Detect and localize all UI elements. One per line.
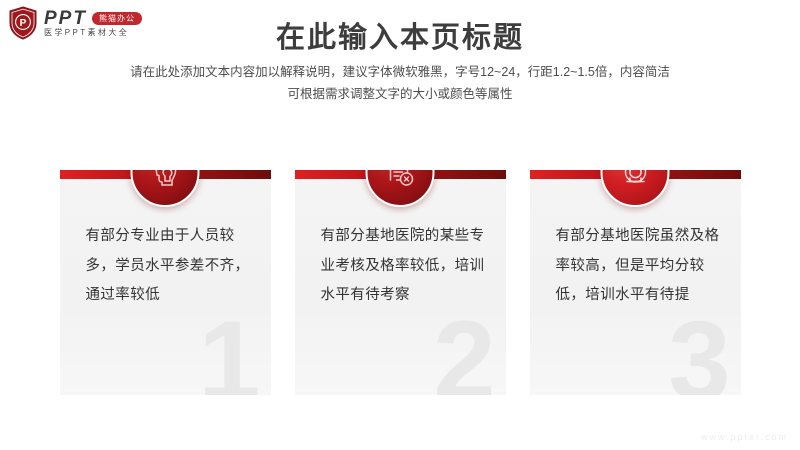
info-card-2[interactable]: 有部分基地医院的某些专业考核及格率较低，培训水平有待考察 2 (295, 170, 506, 395)
card-watermark-number: 1 (198, 305, 260, 395)
card-row: 有部分专业由于人员较多，学员水平参差不齐，通过率较低 1 有部分基地医院的某些专… (0, 170, 800, 395)
page-title: 在此输入本页标题 (0, 14, 800, 56)
info-card-1[interactable]: 有部分专业由于人员较多，学员水平参差不齐，通过率较低 1 (60, 170, 271, 395)
anatomy-head-icon (131, 170, 200, 207)
info-card-3[interactable]: 有部分基地医院虽然及格率较高，但是平均分较低，培训水平有待提 3 (530, 170, 741, 395)
page-subtitle: 请在此处添加文本内容加以解释说明，建议字体微软雅黑，字号12~24，行距1.2~… (0, 62, 800, 106)
site-watermark: www.ppter.com (701, 432, 788, 442)
card-watermark-number: 2 (433, 305, 495, 395)
subtitle-line-1: 请在此处添加文本内容加以解释说明，建议字体微软雅黑，字号12~24，行距1.2~… (0, 62, 800, 84)
card-watermark-number: 3 (668, 305, 730, 395)
subtitle-line-2: 可根据需求调整文字的大小或颜色等属性 (0, 84, 800, 106)
document-reject-icon (366, 170, 435, 207)
ct-scanner-icon (601, 170, 670, 207)
